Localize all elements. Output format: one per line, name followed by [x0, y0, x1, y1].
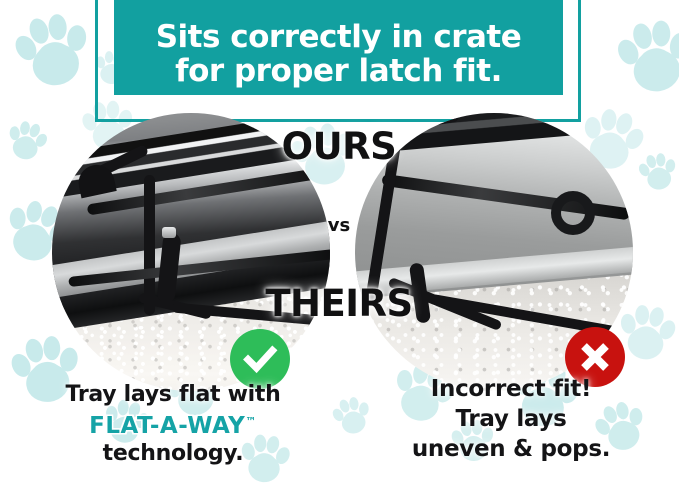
caption-theirs: Incorrect fit! Tray lays uneven & pops. — [348, 374, 674, 464]
check-icon — [241, 340, 279, 378]
header-line-1: Sits correctly in crate — [156, 22, 522, 53]
brand-flat-a-way: FLAT-A-WAY — [89, 413, 245, 440]
paw-icon — [2, 0, 104, 102]
caption-ours-brand-line: FLAT-A-WAY™ — [8, 408, 338, 440]
check-badge — [230, 329, 290, 389]
latch-screw-icon — [162, 227, 176, 238]
cross-icon — [577, 339, 613, 375]
promo-image-canvas: Sits correctly in crate for proper latch… — [0, 0, 679, 485]
caption-theirs-line3: uneven & pops. — [348, 434, 674, 464]
wire-ring-icon — [551, 191, 595, 235]
caption-ours-line1: Tray lays flat with — [8, 381, 338, 408]
caption-ours-line3: technology. — [8, 440, 338, 467]
header-banner: Sits correctly in crate for proper latch… — [114, 0, 563, 95]
caption-ours: Tray lays flat with FLAT-A-WAY™ technolo… — [8, 381, 338, 467]
trademark-symbol: ™ — [245, 408, 257, 435]
header-line-2: for proper latch fit. — [175, 56, 502, 87]
paw-icon — [0, 113, 55, 169]
caption-theirs-line1: Incorrect fit! — [348, 374, 674, 404]
paw-icon — [606, 8, 679, 105]
caption-theirs-line2: Tray lays — [348, 404, 674, 434]
